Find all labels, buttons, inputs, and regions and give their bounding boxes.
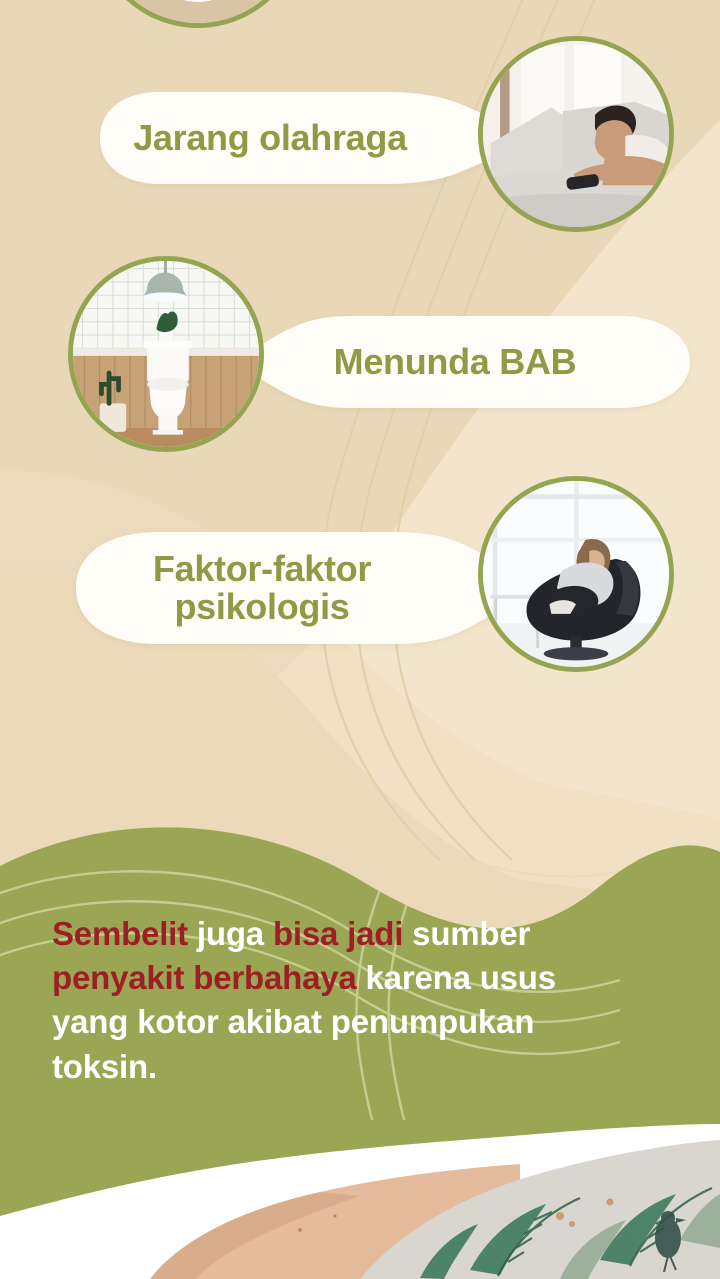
footer-photo-band (0, 1120, 720, 1279)
tropical-leaf-fabric-and-torso-icon (0, 1120, 720, 1279)
photo-circle-1 (478, 36, 674, 232)
footer-word-berbahaya: berbahaya (193, 959, 356, 996)
photo-circle-2 (68, 256, 264, 452)
footer-space-1 (338, 915, 347, 952)
footer-word-penyakit: penyakit (52, 959, 184, 996)
footer-paragraph: Sembelit juga bisa jadi sumber penyakit … (52, 912, 572, 1089)
footer-space-2 (184, 959, 193, 996)
footer-word-sembelit: Sembelit (52, 915, 188, 952)
label-text-1: Jarang olahraga (70, 96, 470, 180)
photo-circle-3 (478, 476, 674, 672)
infographic-canvas: Jarang olahraga (0, 0, 720, 1279)
label-text-3: Faktor-faktor psikologis (62, 534, 462, 642)
footer-word-sumber: sumber (403, 915, 530, 952)
woman-curled-in-chair-by-window-icon (483, 481, 669, 667)
footer-word-jadi: jadi (347, 915, 403, 952)
label-text-2: Menunda BAB (240, 318, 670, 406)
man-lying-on-couch-with-remote-icon (483, 41, 669, 227)
bathroom-toilet-with-plants-icon (73, 261, 259, 447)
footer-word-bisa: bisa (273, 915, 338, 952)
footer-word-juga: juga (188, 915, 273, 952)
